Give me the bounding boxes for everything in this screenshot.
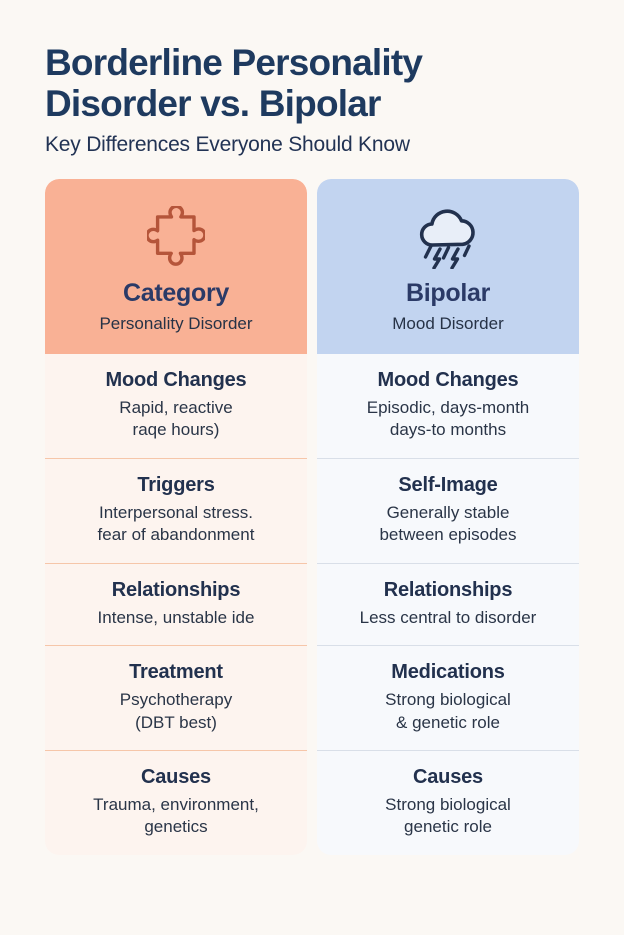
row-description: Psychotherapy (DBT best) [55,689,297,734]
comparison-table: Category Personality Disorder Mood Chang… [45,179,579,855]
row-description: Trauma, environment, genetics [55,794,297,839]
table-row: Medications Strong biological & genetic … [317,645,579,750]
page-title: Borderline Personality Disorder vs. Bipo… [45,42,579,125]
row-description: Generally stable between episodes [327,502,569,547]
infographic-page: Borderline Personality Disorder vs. Bipo… [0,0,624,935]
table-row: Triggers Interpersonal stress. fear of a… [45,458,307,563]
row-title: Mood Changes [327,369,569,392]
table-row: Relationships Intense, unstable ide [45,563,307,645]
column-header-bipolar: Bipolar Mood Disorder [317,179,579,354]
row-title: Causes [55,766,297,789]
row-description: Strong biological & genetic role [327,689,569,734]
row-title: Self-Image [327,474,569,497]
puzzle-piece-icon [55,203,297,271]
column-subtitle: Personality Disorder [55,314,297,334]
row-title: Causes [327,766,569,789]
row-description: Episodic, days-month days-to months [327,397,569,442]
row-description: Less central to disorder [327,607,569,629]
column-title: Bipolar [327,279,569,308]
column-bipolar: Bipolar Mood Disorder Mood Changes Episo… [317,179,579,855]
table-row: Relationships Less central to disorder [317,563,579,645]
table-row: Causes Strong biological genetic role [317,750,579,855]
row-description: Interpersonal stress. fear of abandonmen… [55,502,297,547]
row-title: Triggers [55,474,297,497]
row-description: Intense, unstable ide [55,607,297,629]
column-title: Category [55,279,297,308]
table-row: Mood Changes Rapid, reactive raqe hours) [45,354,307,458]
header: Borderline Personality Disorder vs. Bipo… [45,0,579,157]
row-title: Relationships [55,579,297,602]
table-row: Treatment Psychotherapy (DBT best) [45,645,307,750]
table-row: Mood Changes Episodic, days-month days-t… [317,354,579,458]
column-body-bipolar: Mood Changes Episodic, days-month days-t… [317,354,579,855]
table-row: Self-Image Generally stable between epis… [317,458,579,563]
row-title: Relationships [327,579,569,602]
column-subtitle: Mood Disorder [327,314,569,334]
page-subtitle: Key Differences Everyone Should Know [45,133,579,157]
column-header-category: Category Personality Disorder [45,179,307,354]
column-body-category: Mood Changes Rapid, reactive raqe hours)… [45,354,307,855]
row-title: Mood Changes [55,369,297,392]
row-description: Strong biological genetic role [327,794,569,839]
table-row: Causes Trauma, environment, genetics [45,750,307,855]
row-title: Medications [327,661,569,684]
row-title: Treatment [55,661,297,684]
row-description: Rapid, reactive raqe hours) [55,397,297,442]
storm-cloud-icon [327,203,569,271]
column-category: Category Personality Disorder Mood Chang… [45,179,307,855]
